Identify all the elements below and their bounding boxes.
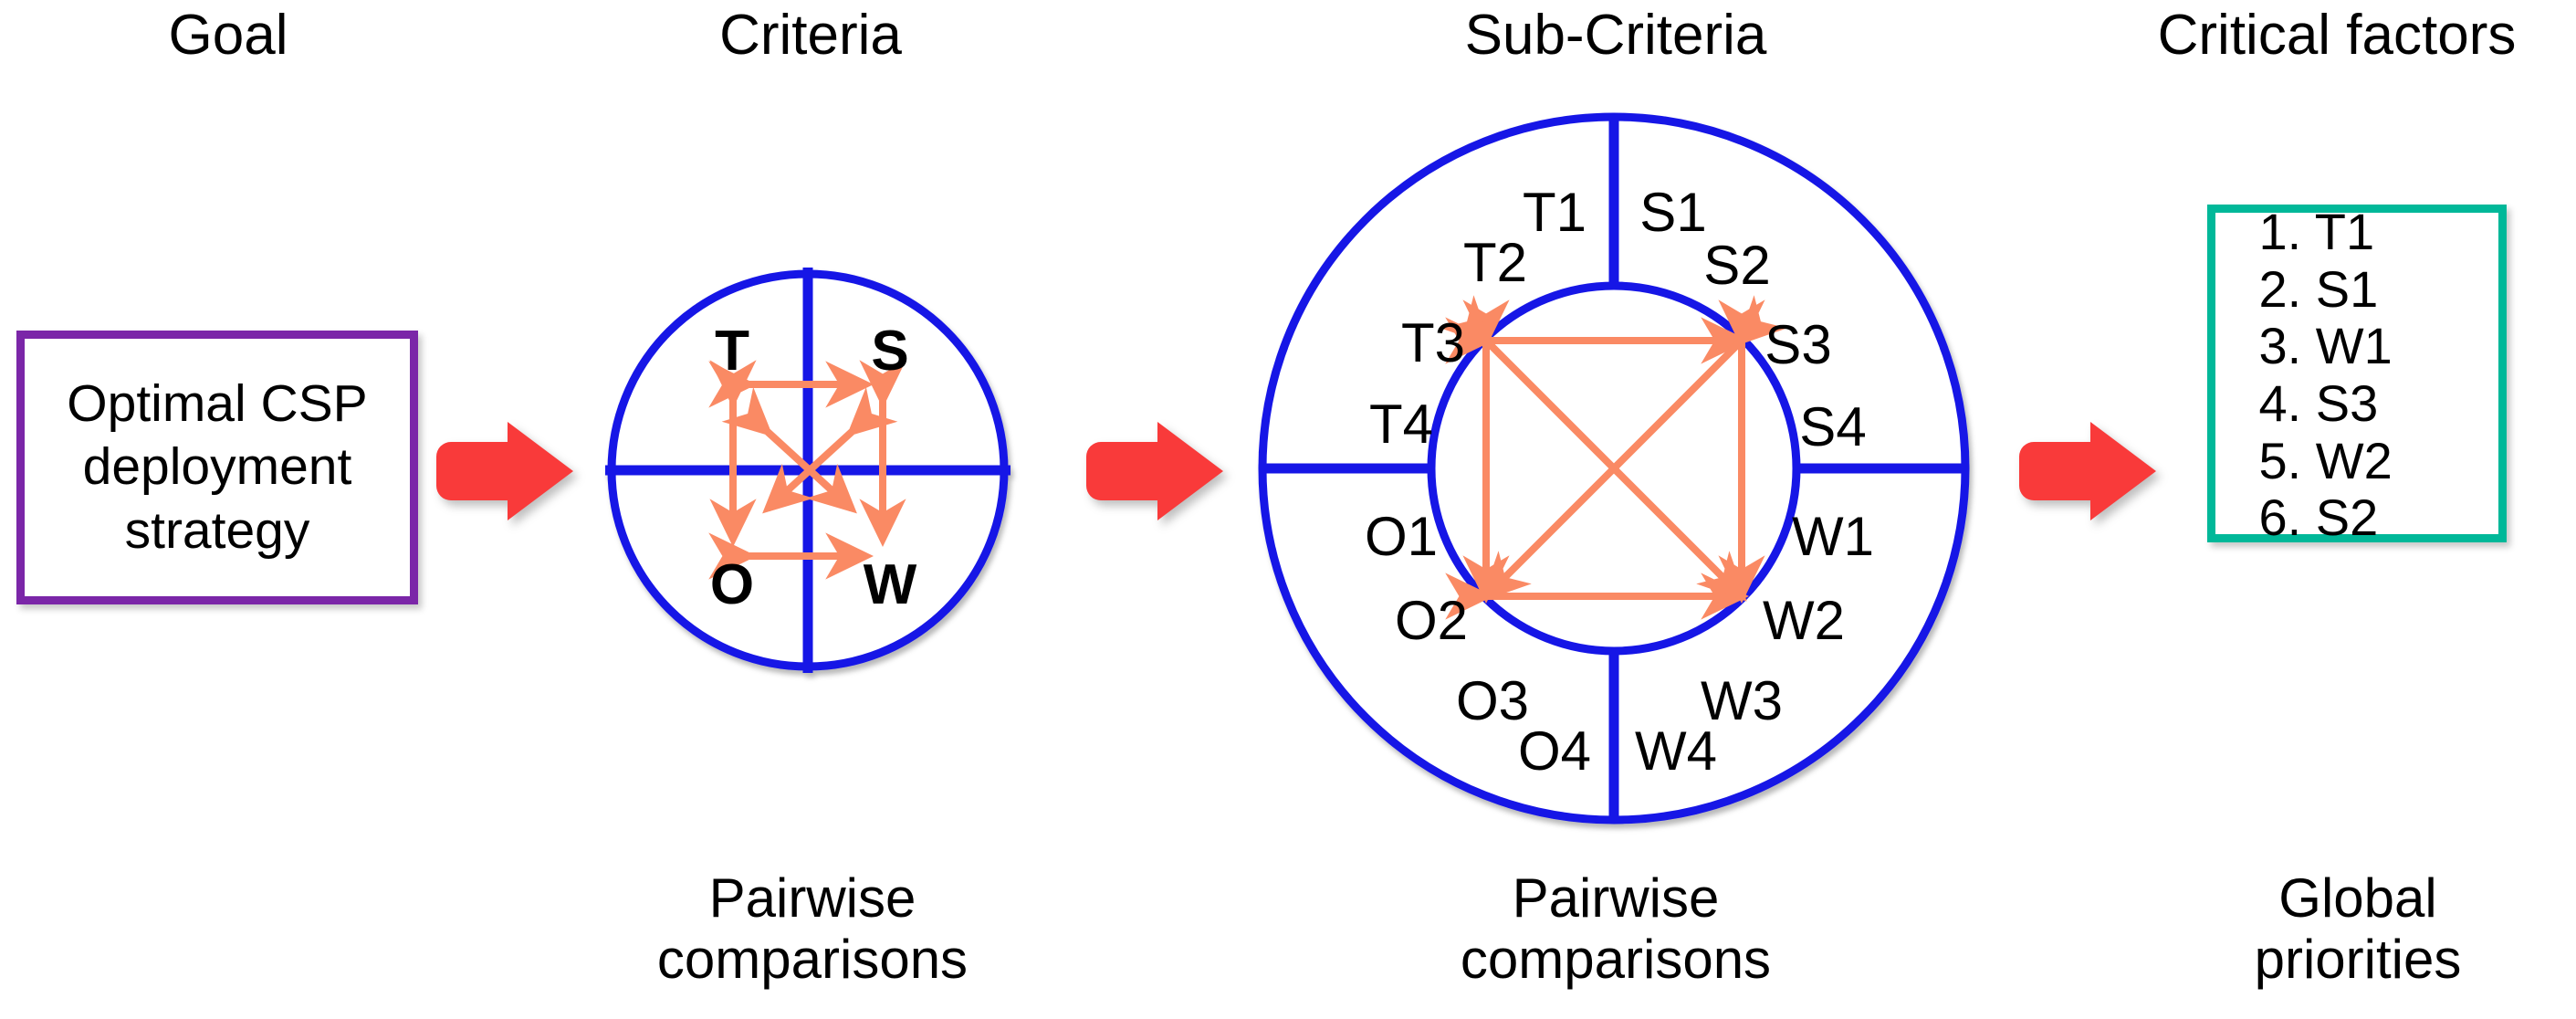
subcriteria-label-W4: W4 [1635,720,1717,782]
column-header-sub-criteria: Sub-Criteria [1360,7,1871,64]
subcriteria-wheel: T1 T2 T3 T4 S1 S2 S3 S4 O1 O2 O3 O4 W1 W… [1244,99,1984,838]
subcriteria-label-T4: T4 [1369,394,1433,455]
subcriteria-label-S2: S2 [1703,235,1770,296]
criteria-label-T: T [715,320,749,383]
subcriteria-label-T2: T2 [1463,232,1527,293]
subcriteria-label-S1: S1 [1639,182,1706,243]
criteria-label-W: W [864,553,917,616]
critical-factor-item: 3. W1 [2259,318,2456,375]
subcriteria-label-T3: T3 [1401,312,1465,373]
subcriteria-label-O1: O1 [1365,506,1438,567]
column-header-criteria: Criteria [573,7,1048,64]
subcriteria-label-S3: S3 [1764,314,1831,375]
goal-box-text: Optimal CSP deployment strategy [67,373,367,563]
critical-factor-item: 6. S2 [2259,489,2456,547]
criteria-label-O: O [710,553,754,616]
subcriteria-label-O2: O2 [1395,590,1468,651]
caption-subcriteria-pairwise: Pairwise comparisons [1369,867,1862,990]
column-header-critical-factors: Critical factors [2100,7,2574,64]
critical-factor-item: 2. S1 [2259,261,2456,319]
transition-arrow-2-icon [1086,420,1223,522]
subcriteria-label-S4: S4 [1799,396,1866,457]
criteria-wheel: T S O W [589,251,1027,689]
transition-arrow-1-icon [436,420,573,522]
goal-box: Optimal CSP deployment strategy [16,331,418,604]
subcriteria-label-T1: T1 [1523,182,1586,243]
column-header-goal: Goal [0,7,456,64]
diagram-canvas: Goal Criteria Sub-Criteria Critical fact… [0,0,2576,1019]
subcriteria-label-W2: W2 [1763,590,1845,651]
critical-factor-item: 4. S3 [2259,375,2456,433]
caption-criteria-pairwise: Pairwise comparisons [566,867,1059,990]
critical-factor-item: 1. T1 [2259,204,2456,261]
subcriteria-label-W1: W1 [1792,506,1874,567]
critical-factor-item: 5. W2 [2259,433,2456,490]
transition-arrow-3-icon [2019,420,2156,522]
caption-global-priorities: Global priorities [2116,867,2576,990]
subcriteria-label-O4: O4 [1518,720,1591,782]
critical-factors-box: 1. T1 2. S1 3. W1 4. S3 5. W2 6. S2 [2207,205,2507,542]
criteria-label-S: S [871,320,908,383]
